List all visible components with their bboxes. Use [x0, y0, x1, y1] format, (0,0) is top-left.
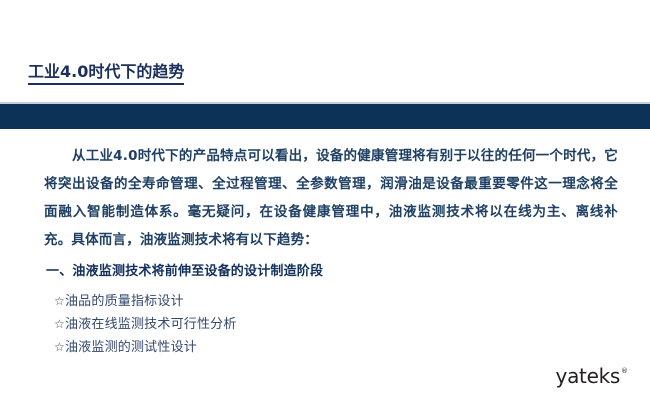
star-icon: ☆ — [54, 317, 65, 331]
list-item: ☆油品的质量指标设计 — [54, 290, 237, 313]
registered-trademark-icon: ® — [621, 367, 628, 376]
title-divider-bar — [0, 104, 650, 129]
list-item-label: 油品的质量指标设计 — [65, 294, 184, 309]
body-paragraph: 从工业4.0时代下的产品特点可以看出，设备的健康管理将有别于以往的任何一个时代，… — [44, 142, 618, 254]
list-item-label: 油液在线监测技术可行性分析 — [65, 317, 237, 332]
list-item: ☆油液监测的测试性设计 — [54, 336, 237, 359]
bullet-list: ☆油品的质量指标设计 ☆油液在线监测技术可行性分析 ☆油液监测的测试性设计 — [54, 290, 237, 359]
list-item-label: 油液监测的测试性设计 — [65, 340, 197, 355]
brand-logo: yateks ® — [556, 366, 628, 386]
star-icon: ☆ — [54, 340, 65, 354]
slide-title-block: 工业4.0时代下的趋势 — [28, 62, 184, 88]
list-item: ☆油液在线监测技术可行性分析 — [54, 313, 237, 336]
section-heading: 一、油液监测技术将前伸至设备的设计制造阶段 — [46, 262, 323, 282]
star-icon: ☆ — [54, 294, 65, 308]
slide-canvas: 工业4.0时代下的趋势 从工业4.0时代下的产品特点可以看出，设备的健康管理将有… — [0, 0, 650, 402]
logo-wordmark: yateks — [556, 366, 620, 386]
page-title: 工业4.0时代下的趋势 — [28, 62, 184, 85]
